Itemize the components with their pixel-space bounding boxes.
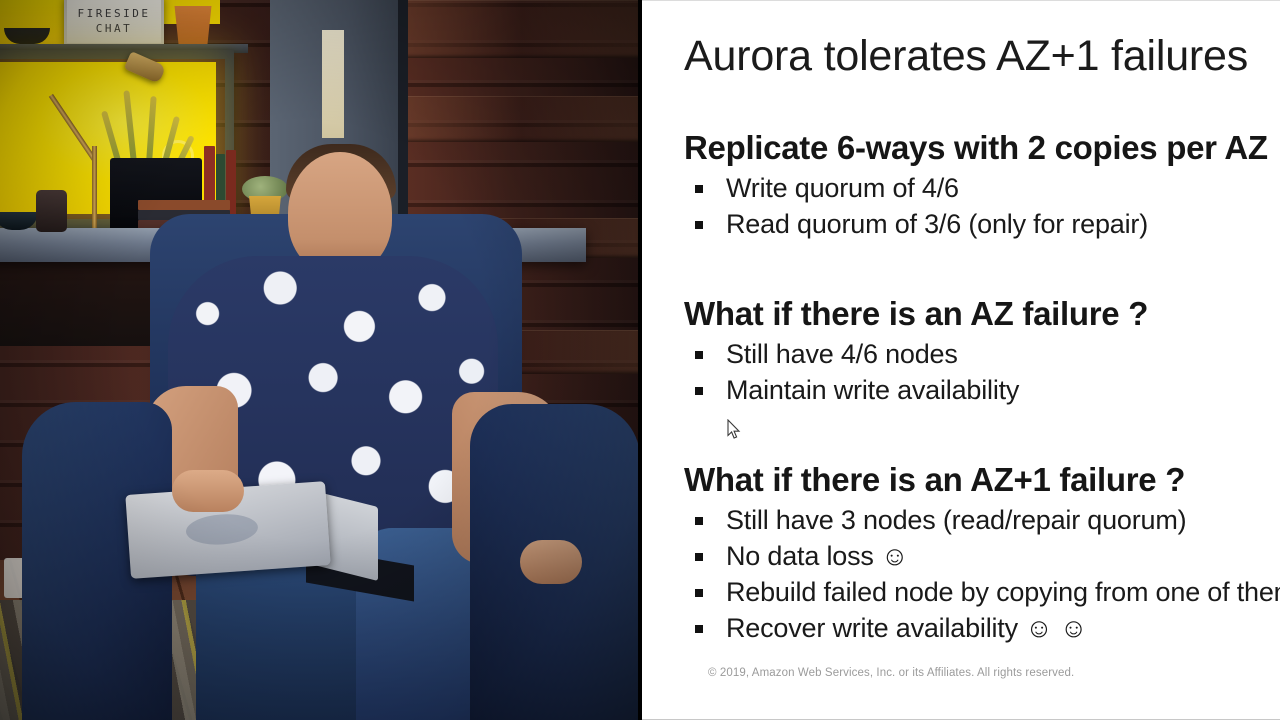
presenter-hand-right [520, 540, 582, 584]
slide-section-replicate: Replicate 6-ways with 2 copies per AZ Wr… [684, 129, 1280, 242]
dark-side-table [0, 256, 174, 346]
video-feed-panel[interactable]: FIRESIDE CHAT [0, 0, 640, 720]
bullet-item: Rebuild failed node by copying from one … [684, 574, 1280, 610]
section-heading: Replicate 6-ways with 2 copies per AZ [684, 129, 1280, 167]
bullet-item: Read quorum of 3/6 (only for repair) [684, 206, 1280, 242]
section-heading: What if there is an AZ failure ? [684, 295, 1280, 333]
slide-section-az-plus-1-failure: What if there is an AZ+1 failure ? Still… [684, 461, 1280, 646]
slide-footer-copyright: © 2019, Amazon Web Services, Inc. or its… [708, 667, 1074, 679]
slide-title: Aurora tolerates AZ+1 failures [684, 32, 1248, 81]
bullet-list: Still have 4/6 nodes Maintain write avai… [684, 336, 1280, 408]
orange-planter [172, 6, 214, 46]
bullet-list: Write quorum of 4/6 Read quorum of 3/6 (… [684, 170, 1280, 242]
wall-plank [404, 96, 640, 142]
presentation-slide[interactable]: Aurora tolerates AZ+1 failures Replicate… [642, 0, 1280, 720]
bullet-item: Maintain write availability [684, 372, 1280, 408]
lamp-post [92, 146, 97, 232]
section-heading: What if there is an AZ+1 failure ? [684, 461, 1280, 499]
screen: FIRESIDE CHAT [0, 0, 1280, 720]
sign-line-2: CHAT [96, 21, 133, 36]
presenter-hand-left [172, 470, 244, 512]
wall-plank [404, 0, 640, 58]
bullet-item: Still have 3 nodes (read/repair quorum) [684, 502, 1280, 538]
bullet-item: Write quorum of 4/6 [684, 170, 1280, 206]
slide-section-az-failure: What if there is an AZ failure ? Still h… [684, 295, 1280, 408]
bullet-list: Still have 3 nodes (read/repair quorum) … [684, 502, 1280, 646]
smart-speaker [36, 190, 67, 232]
bullet-item: Recover write availability ☺ ☺ [684, 610, 1280, 646]
bullet-item: No data loss ☺ [684, 538, 1280, 574]
bullet-item: Still have 4/6 nodes [684, 336, 1280, 372]
sign-line-1: FIRESIDE [78, 6, 151, 21]
fireside-chat-sign: FIRESIDE CHAT [64, 0, 164, 46]
